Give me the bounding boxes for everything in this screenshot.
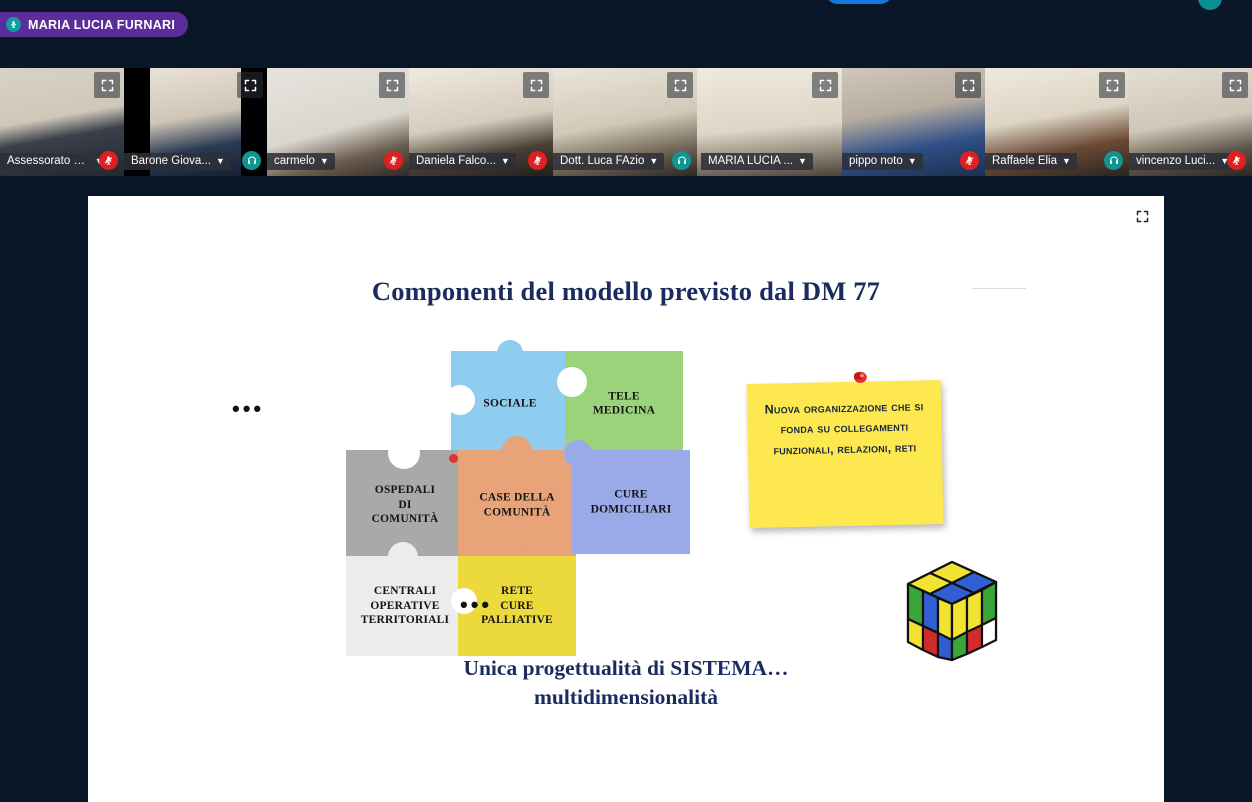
puzzle-piece-cure-domiciliari: CUREDOMICILIARI [572, 450, 690, 554]
participant-name-chip[interactable]: pippo noto▼ [842, 153, 923, 170]
participant-tile[interactable]: Daniela Falco...▼ [409, 68, 553, 176]
participant-name-chip[interactable]: carmelo▼ [267, 153, 335, 170]
participant-name-chip[interactable]: Barone Giova...▼ [124, 153, 231, 170]
participant-name: Daniela Falco... [416, 155, 496, 167]
puzzle-diagram: SOCIALE TELEMEDICINA OSPEDALIDICOMUNITÀ … [346, 351, 716, 656]
puzzle-label-cure-domiciliari: CUREDOMICILIARI [572, 487, 690, 516]
participant-video-strip: Assessorato S...▼Barone Giova...▼carmelo… [0, 68, 1252, 176]
sticky-note-text: Nuova organizzazione che si fonda su col… [753, 396, 936, 461]
participant-name-chip[interactable]: Daniela Falco...▼ [409, 153, 516, 170]
participant-tile[interactable]: vincenzo Luci...▼ [1129, 68, 1252, 176]
microphone-icon [6, 17, 21, 32]
chevron-down-icon[interactable]: ▼ [649, 157, 658, 166]
expand-icon[interactable] [523, 72, 549, 98]
puzzle-label-centrali-operative: CENTRALIOPERATIVETERRITORIALI [346, 584, 464, 628]
top-bar: MARIA LUCIA FURNARI [0, 0, 1252, 68]
slide-caption: Unica progettualità di SISTEMA… multidim… [88, 654, 1164, 711]
expand-icon[interactable] [379, 72, 405, 98]
puzzle-label-ospedali: OSPEDALIDICOMUNITÀ [346, 483, 464, 527]
expand-icon[interactable] [94, 72, 120, 98]
participant-name-chip[interactable]: Assessorato S...▼ [0, 153, 110, 170]
chevron-down-icon[interactable]: ▼ [216, 157, 225, 166]
slide-title: Componenti del modello previsto dal DM 7… [88, 276, 1164, 307]
expand-icon[interactable] [1222, 72, 1248, 98]
slide-expand-icon[interactable] [1128, 203, 1156, 229]
ellipsis-left: ••• [232, 398, 264, 420]
pushpin-icon [848, 370, 870, 392]
participant-name-chip[interactable]: MARIA LUCIA ...▼ [701, 153, 813, 170]
participant-tile[interactable]: Assessorato S...▼ [0, 68, 124, 176]
muted-mic-icon [528, 151, 547, 170]
puzzle-label-tele-medicina: TELEMEDICINA [565, 389, 683, 418]
headphones-icon [1104, 151, 1123, 170]
participant-tile[interactable]: carmelo▼ [267, 68, 409, 176]
chevron-down-icon[interactable]: ▼ [320, 157, 329, 166]
puzzle-label-case-comunita: CASE DELLACOMUNITÀ [458, 490, 576, 519]
participant-name: Barone Giova... [131, 155, 211, 167]
participant-name: Assessorato S... [7, 155, 90, 167]
participant-name-chip[interactable]: vincenzo Luci...▼ [1129, 153, 1235, 170]
participant-name: Dott. Luca FAzio [560, 155, 644, 167]
headphones-icon [242, 151, 261, 170]
slide-caption-line2: multidimensionalità [534, 685, 718, 709]
participant-tile[interactable]: pippo noto▼ [842, 68, 985, 176]
expand-icon[interactable] [1099, 72, 1125, 98]
chevron-down-icon[interactable]: ▼ [908, 157, 917, 166]
participant-name-chip[interactable]: Dott. Luca FAzio▼ [553, 153, 664, 170]
participant-tile[interactable]: MARIA LUCIA ...▼ [697, 68, 842, 176]
muted-mic-icon [1227, 151, 1246, 170]
puzzle-piece-case-comunita: CASE DELLACOMUNITÀ [458, 450, 576, 560]
muted-mic-icon [384, 151, 403, 170]
muted-mic-icon [960, 151, 979, 170]
participant-tile[interactable]: Barone Giova...▼ [124, 68, 267, 176]
expand-icon[interactable] [667, 72, 693, 98]
participant-name: carmelo [274, 155, 315, 167]
puzzle-label-sociale: SOCIALE [451, 396, 569, 411]
headphones-icon [672, 151, 691, 170]
participant-tile[interactable]: Dott. Luca FAzio▼ [553, 68, 697, 176]
top-teal-control[interactable] [1198, 0, 1222, 10]
chevron-down-icon[interactable]: ▼ [798, 157, 807, 166]
expand-icon[interactable] [812, 72, 838, 98]
expand-icon[interactable] [955, 72, 981, 98]
active-speaker-name: MARIA LUCIA FURNARI [28, 18, 175, 32]
muted-mic-icon [99, 151, 118, 170]
active-speaker-badge: MARIA LUCIA FURNARI [0, 12, 188, 37]
sticky-note: Nuova organizzazione che si fonda su col… [747, 380, 944, 528]
ellipsis-bottom: ••• [460, 594, 492, 616]
participant-name: MARIA LUCIA ... [708, 155, 793, 167]
marker-dot [449, 454, 458, 463]
expand-icon[interactable] [237, 72, 263, 98]
chevron-down-icon[interactable]: ▼ [501, 157, 510, 166]
shared-screen-slide: Componenti del modello previsto dal DM 7… [88, 196, 1164, 802]
title-rule [972, 288, 1026, 289]
puzzle-piece-centrali-operative: CENTRALIOPERATIVETERRITORIALI [346, 556, 464, 656]
participant-name-chip[interactable]: Raffaele Elia▼ [985, 153, 1077, 170]
participant-name: pippo noto [849, 155, 903, 167]
chevron-down-icon[interactable]: ▼ [1062, 157, 1071, 166]
slide-caption-line1: Unica progettualità di SISTEMA… [463, 656, 788, 680]
participant-name: vincenzo Luci... [1136, 155, 1215, 167]
participant-tile[interactable]: Raffaele Elia▼ [985, 68, 1129, 176]
top-blue-control[interactable] [825, 0, 893, 4]
participant-name: Raffaele Elia [992, 155, 1057, 167]
